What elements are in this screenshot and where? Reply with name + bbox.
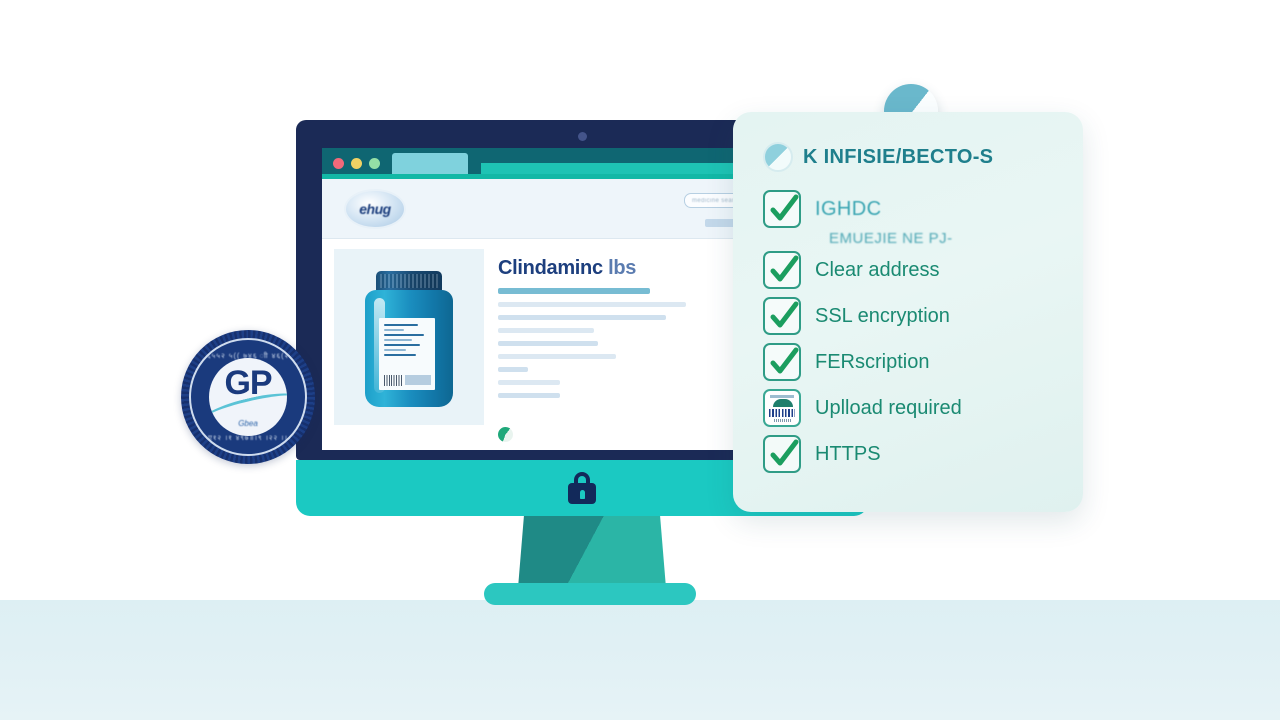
bottle-cap	[376, 271, 442, 292]
checklist-item-label: FERscription	[815, 351, 929, 374]
text-placeholder-line	[498, 354, 616, 359]
pharmacy-logo-text: ehug	[359, 201, 390, 217]
checkmark-icon[interactable]	[763, 190, 801, 228]
checklist-item[interactable]: HTTPS	[763, 433, 1061, 475]
gphc-registration-seal: ६५५२ ५(( ७४६ ाी ४६(२ ए१२ ।१ ४९७॥।९ ।२२ ।…	[181, 330, 315, 464]
checklist-item-subtext: EMUEJIE NE PJ-	[829, 230, 1061, 247]
seal-inner-ring: ६५५२ ५(( ७४६ ाी ४६(२ ए१२ ।१ ४९७॥।९ ।२२ ।…	[189, 338, 307, 456]
checklist-item-label: HTTPS	[815, 443, 881, 466]
checkmark-icon[interactable]	[763, 297, 801, 335]
text-placeholder-line	[498, 315, 666, 320]
illustration-canvas: ehug medicine search	[0, 0, 1280, 720]
checklist-item[interactable]: IGHDC	[763, 188, 1061, 230]
document-icon[interactable]	[763, 389, 801, 427]
product-title-secondary: lbs	[608, 257, 636, 279]
brand-mark-icon	[498, 427, 513, 442]
text-placeholder-line	[498, 302, 686, 307]
checklist-item[interactable]: FERscription	[763, 341, 1061, 383]
text-placeholder-line	[498, 341, 598, 346]
safety-checklist-panel: K INFISIE/BECTO-S IGHDC EMUEJIE NE PJ- C…	[733, 112, 1083, 512]
window-close-button[interactable]	[333, 158, 344, 169]
seal-sub-text: Gbea	[209, 419, 287, 428]
text-placeholder-line	[498, 380, 560, 385]
text-placeholder-line	[498, 367, 528, 372]
text-placeholder-line	[498, 393, 560, 398]
monitor-stand	[518, 516, 666, 588]
window-maximize-button[interactable]	[369, 158, 380, 169]
seal-core: GP Gbea	[209, 358, 287, 436]
checkmark-icon[interactable]	[763, 435, 801, 473]
pharmacy-logo[interactable]: ehug	[344, 189, 406, 229]
medicine-bottle-icon	[365, 271, 453, 407]
checklist-item-label: IGHDC	[815, 198, 881, 221]
floor-band	[0, 600, 1280, 720]
checklist-item[interactable]: Uplload required	[763, 387, 1061, 429]
checklist-item-label: SSL encryption	[815, 305, 950, 328]
checklist-item[interactable]: SSL encryption	[763, 295, 1061, 337]
product-image	[334, 249, 484, 425]
checkmark-icon[interactable]	[763, 251, 801, 289]
checklist-item-label: Uplload required	[815, 397, 962, 420]
window-minimize-button[interactable]	[351, 158, 362, 169]
browser-tab[interactable]	[392, 153, 468, 174]
checklist-item-label: Clear address	[815, 259, 940, 282]
product-title-primary: Clindaminc	[498, 257, 603, 279]
title-underline	[498, 288, 650, 294]
monitor-base	[484, 583, 696, 605]
padlock-icon	[568, 472, 596, 504]
pill-icon	[763, 142, 793, 172]
webcam-dot-icon	[578, 132, 587, 141]
text-placeholder-line	[498, 328, 594, 333]
panel-title: K INFISIE/BECTO-S	[803, 146, 993, 169]
checkmark-icon[interactable]	[763, 343, 801, 381]
checklist-item[interactable]: Clear address	[763, 249, 1061, 291]
panel-header: K INFISIE/BECTO-S	[763, 142, 1061, 172]
bottle-label	[379, 318, 435, 390]
bottle-body	[365, 290, 453, 407]
